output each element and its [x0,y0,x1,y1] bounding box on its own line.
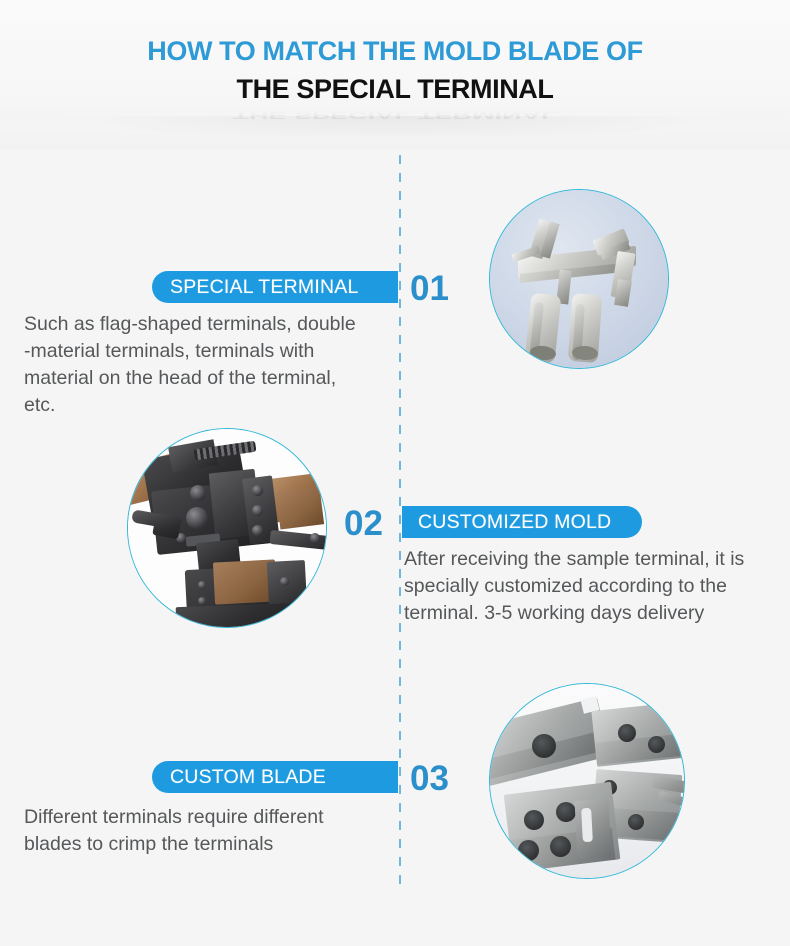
infographic-page: HOW TO MATCH THE MOLD BLADE OF THE SPECI… [0,0,790,946]
header-banner: HOW TO MATCH THE MOLD BLADE OF THE SPECI… [0,0,790,150]
section-03-badge-label: CUSTOM BLADE [170,766,326,789]
section-03-body: Different terminals require different bl… [24,804,396,858]
section-02-body: After receiving the sample terminal, it … [404,546,784,627]
section-01-image [489,189,669,369]
page-title-line-2: THE SPECIAL TERMINAL [0,74,790,105]
section-01-body-line-3: material on the head of the terminal, [24,365,396,392]
section-01-badge: SPECIAL TERMINAL [152,271,398,303]
section-01-number: 01 [410,271,449,306]
section-02-badge-label: CUSTOMIZED MOLD [418,511,611,534]
section-03-number: 03 [410,761,449,796]
section-01-body-line-1: Such as flag-shaped terminals, double [24,311,396,338]
section-02-body-line-2: specially customized according to the [404,573,784,600]
section-02-body-line-1: After receiving the sample terminal, it … [404,546,784,573]
section-02-badge: CUSTOMIZED MOLD [402,506,642,538]
header-shadow [0,116,790,150]
section-01-body-line-2: -material terminals, terminals with [24,338,396,365]
section-02-body-line-3: terminal. 3-5 working days delivery [404,600,784,627]
section-03-body-line-1: Different terminals require different [24,804,396,831]
section-03-body-line-2: blades to crimp the terminals [24,831,396,858]
page-title-line-1: HOW TO MATCH THE MOLD BLADE OF [0,36,790,67]
section-02-image [127,428,327,628]
section-01-body-line-4: etc. [24,392,396,419]
vertical-dashed-divider [399,155,401,890]
section-03-badge: CUSTOM BLADE [152,761,398,793]
section-01-badge-label: SPECIAL TERMINAL [170,276,359,299]
section-03-image [489,683,685,879]
section-02-number: 02 [344,506,383,541]
section-01-body: Such as flag-shaped terminals, double -m… [24,311,396,419]
